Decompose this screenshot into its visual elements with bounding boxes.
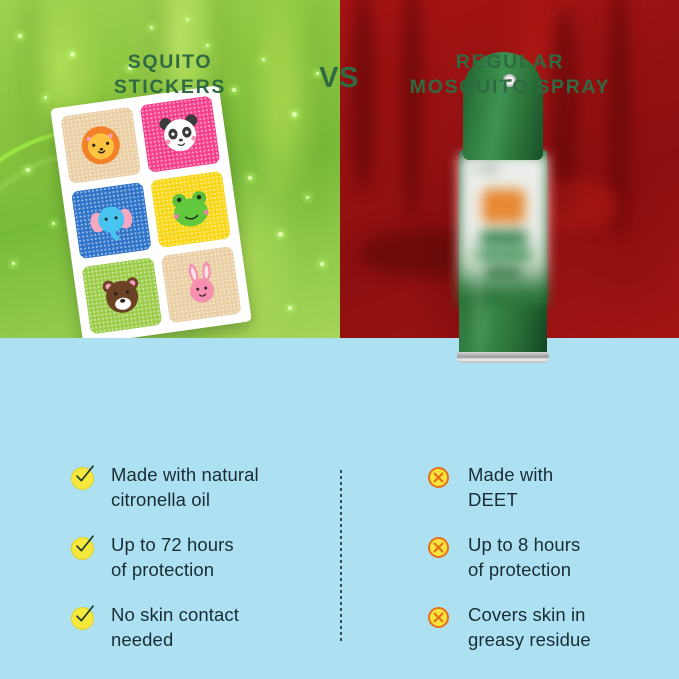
can-base-rim [457, 352, 549, 363]
rabbit-face-icon [175, 259, 227, 311]
list-item: Up to 8 hours of protection [427, 532, 679, 582]
vs-label: VS [299, 62, 379, 95]
list-item-text: Up to 8 hours of protection [468, 532, 580, 582]
sticker-bear [82, 257, 163, 334]
x-icon [427, 464, 452, 489]
left-product-title: SQUITO STICKERS [30, 50, 310, 100]
right-title-line2: MOSQUITO SPRAY [370, 75, 650, 100]
feature-line2: citronella oil [111, 489, 210, 510]
frog-face-icon [165, 183, 217, 235]
list-item: Made with natural citronella oil [70, 462, 340, 512]
feature-line1: Up to 8 hours [468, 534, 580, 555]
feature-line2: needed [111, 629, 173, 650]
bear-face-icon [96, 270, 148, 322]
sticker-sheet [50, 85, 251, 338]
check-icon [70, 464, 95, 489]
list-item-text: No skin contact needed [111, 602, 239, 652]
feature-line2: of protection [111, 559, 214, 580]
list-item: Covers skin in greasy residue [427, 602, 679, 652]
right-product-title: REGULAR MOSQUITO SPRAY [370, 50, 650, 100]
feature-line1: No skin contact [111, 604, 239, 625]
list-item-text: Up to 72 hours of protection [111, 532, 234, 582]
feature-line2: DEET [468, 489, 518, 510]
left-title-line1: SQUITO [30, 50, 310, 75]
x-icon [427, 604, 452, 629]
feature-line1: Made with natural [111, 464, 259, 485]
sticker-rabbit [161, 246, 242, 323]
list-item-text: Made with natural citronella oil [111, 462, 259, 512]
feature-line1: Up to 72 hours [111, 534, 234, 555]
left-title-line2: STICKERS [30, 75, 310, 100]
x-icon [427, 534, 452, 559]
right-title-line1: REGULAR [370, 50, 650, 75]
panda-face-icon [154, 108, 206, 160]
list-item-text: Covers skin in greasy residue [468, 602, 591, 652]
comparison-infographic: SQUITO STICKERS VS REGULAR MOSQUITO SPRA… [0, 0, 679, 679]
check-icon [70, 534, 95, 559]
feature-line2: of protection [468, 559, 571, 580]
lion-face-icon [75, 119, 127, 171]
right-feature-list: Made with DEET Up to 8 hours of protecti… [427, 462, 679, 672]
sticker-frog [150, 171, 231, 248]
sticker-lion [60, 107, 141, 184]
can-highlight [473, 152, 484, 350]
feature-line2: greasy residue [468, 629, 591, 650]
feature-line1: Covers skin in [468, 604, 586, 625]
product-headings: SQUITO STICKERS VS REGULAR MOSQUITO SPRA… [0, 50, 679, 110]
left-feature-list: Made with natural citronella oil Up to 7… [70, 462, 340, 672]
list-item-text: Made with DEET [468, 462, 553, 512]
list-item: Up to 72 hours of protection [70, 532, 340, 582]
list-item: No skin contact needed [70, 602, 340, 652]
check-icon [70, 604, 95, 629]
vertical-dotted-divider [340, 470, 342, 642]
feature-line1: Made with [468, 464, 553, 485]
elephant-face-icon [85, 195, 137, 247]
list-item: Made with DEET [427, 462, 679, 512]
sticker-elephant [71, 182, 152, 259]
